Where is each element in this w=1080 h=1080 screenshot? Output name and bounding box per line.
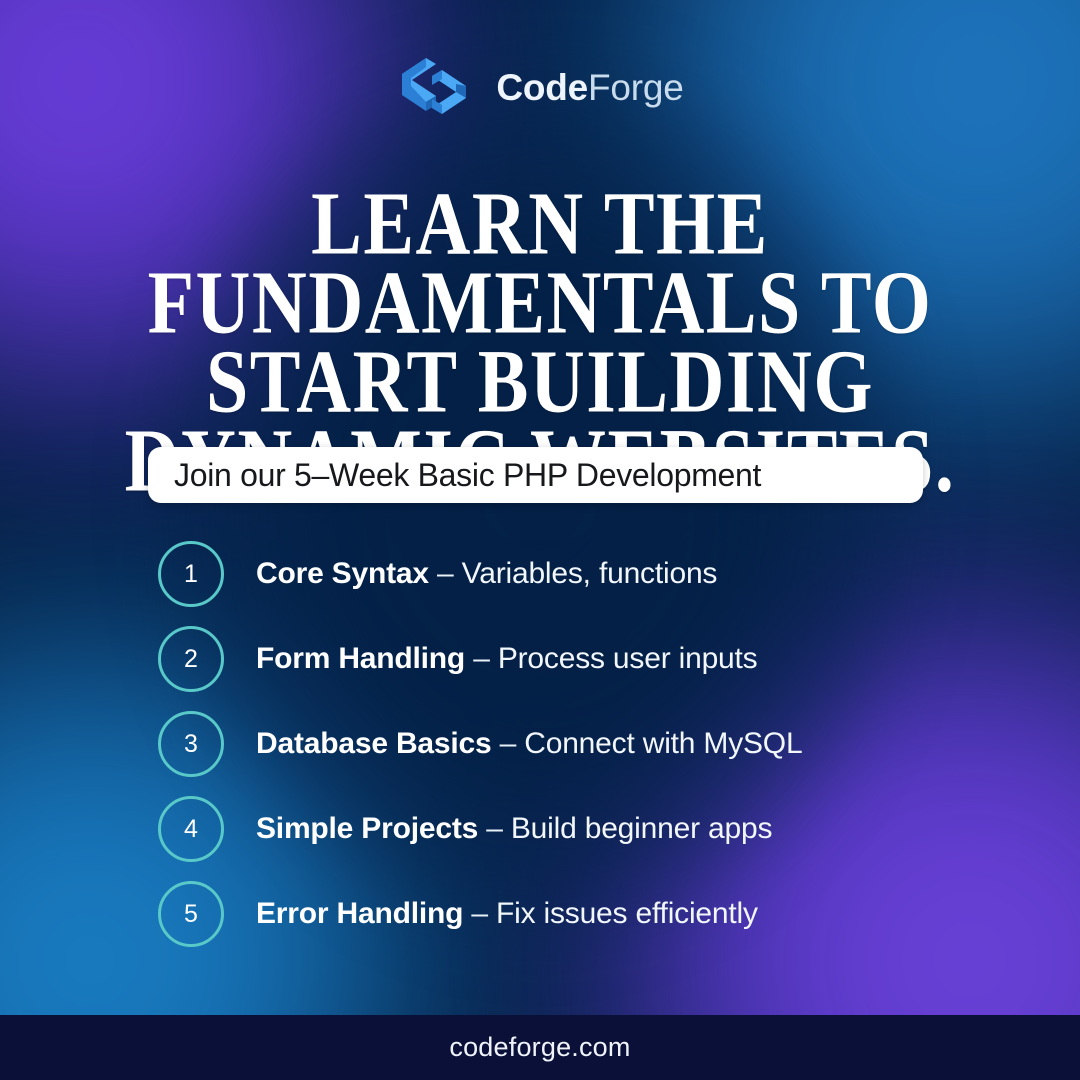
- list-item-title: Error Handling: [256, 897, 463, 930]
- list-item-number-badge: 1: [158, 541, 224, 607]
- brand-name-bold: Code: [496, 67, 588, 108]
- headline-line-2: Fundamentals to: [60, 264, 1020, 343]
- list-item-number-badge: 3: [158, 711, 224, 777]
- poster-content: CodeForge Learn the Fundamentals to Star…: [0, 0, 1080, 1080]
- brand-name-light: Forge: [588, 67, 684, 108]
- list-item-description: Fix issues efficiently: [496, 897, 758, 930]
- list-item-text: Simple Projects – Build beginner apps: [256, 812, 772, 846]
- footer-bar: codeforge.com: [0, 1015, 1080, 1080]
- website-url[interactable]: codeforge.com: [449, 1032, 630, 1063]
- list-item-separator: –: [491, 727, 524, 760]
- promo-poster: CodeForge Learn the Fundamentals to Star…: [0, 0, 1080, 1080]
- list-item-title: Database Basics: [256, 727, 491, 760]
- list-item-separator: –: [429, 557, 462, 590]
- list-item-number-badge: 5: [158, 881, 224, 947]
- list-item-text: Core Syntax – Variables, functions: [256, 557, 717, 591]
- list-item: 4 Simple Projects – Build beginner apps: [158, 793, 1020, 865]
- list-item-text: Form Handling – Process user inputs: [256, 642, 757, 676]
- subtitle-banner: Join our 5–Week Basic PHP Development: [148, 447, 923, 503]
- list-item: 3 Database Basics – Connect with MySQL: [158, 708, 1020, 780]
- list-item-separator: –: [478, 812, 511, 845]
- list-item-description: Connect with MySQL: [524, 727, 802, 760]
- list-item-number-badge: 2: [158, 626, 224, 692]
- list-item: 2 Form Handling – Process user inputs: [158, 623, 1020, 695]
- list-item-description: Variables, functions: [462, 557, 718, 590]
- brand-wordmark: CodeForge: [496, 69, 683, 106]
- list-item-description: Build beginner apps: [511, 812, 772, 845]
- feature-list: 1 Core Syntax – Variables, functions 2 F…: [158, 538, 1020, 963]
- brand-logo: CodeForge: [0, 56, 1080, 118]
- headline-line-1: Learn the: [60, 185, 1020, 264]
- list-item-description: Process user inputs: [498, 642, 758, 675]
- list-item-separator: –: [463, 897, 496, 930]
- list-item-title: Core Syntax: [256, 557, 429, 590]
- list-item: 5 Error Handling – Fix issues efficientl…: [158, 878, 1020, 950]
- list-item-number-badge: 4: [158, 796, 224, 862]
- list-item-separator: –: [465, 642, 498, 675]
- list-item-title: Simple Projects: [256, 812, 478, 845]
- list-item-text: Database Basics – Connect with MySQL: [256, 727, 802, 761]
- list-item: 1 Core Syntax – Variables, functions: [158, 538, 1020, 610]
- list-item-title: Form Handling: [256, 642, 465, 675]
- code-brackets-icon: [396, 56, 474, 118]
- list-item-text: Error Handling – Fix issues efficiently: [256, 897, 758, 931]
- subtitle-text: Join our 5–Week Basic PHP Development: [148, 457, 761, 494]
- headline-line-3: Start Building: [60, 343, 1020, 422]
